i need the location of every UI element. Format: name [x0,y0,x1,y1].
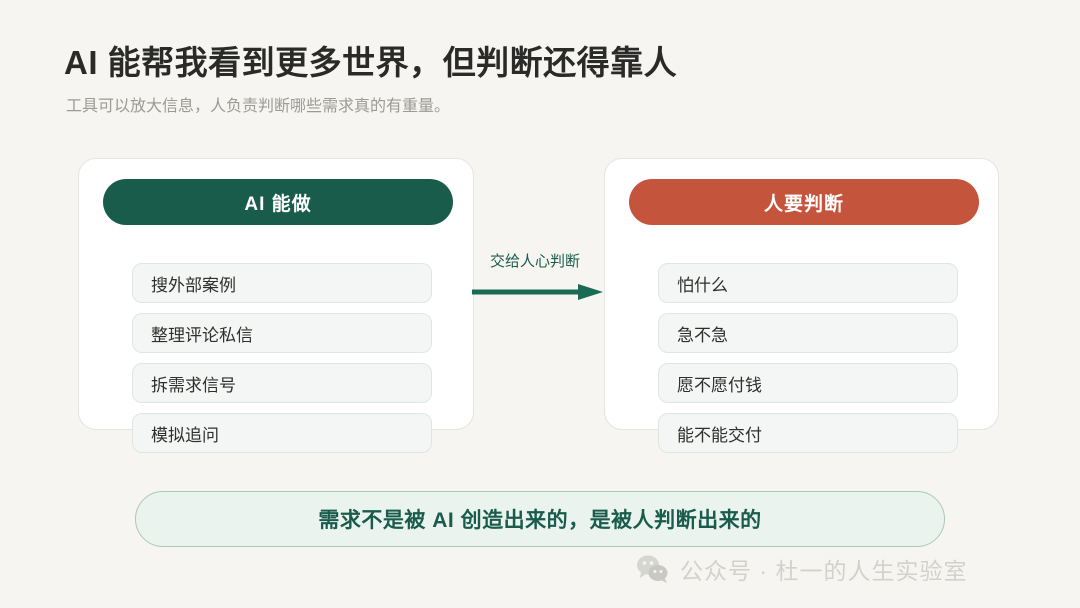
slide-root: AI 能帮我看到更多世界，但判断还得靠人 工具可以放大信息，人负责判断哪些需求真… [0,0,1080,608]
wechat-icon [636,554,670,584]
summary-banner: 需求不是被 AI 创造出来的，是被人判断出来的 [135,491,945,547]
arrow-right-icon [470,283,605,301]
list-item[interactable]: 急不急 [658,313,958,353]
watermark: 公众号 · 杜一的人生实验室 [636,552,967,586]
list-item[interactable]: 能不能交付 [658,413,958,453]
list-item[interactable]: 愿不愿付钱 [658,363,958,403]
list-ai-can-do: 搜外部案例 整理评论私信 拆需求信号 模拟追问 [132,263,432,463]
list-item[interactable]: 模拟追问 [132,413,432,453]
watermark-text: 公众号 · 杜一的人生实验室 [680,552,967,586]
list-item[interactable]: 搜外部案例 [132,263,432,303]
connector-label: 交给人心判断 [490,250,580,271]
page-subtitle: 工具可以放大信息，人负责判断哪些需求真的有重量。 [66,92,450,116]
list-item[interactable]: 整理评论私信 [132,313,432,353]
card-header-human: 人要判断 [629,179,979,225]
page-title: AI 能帮我看到更多世界，但判断还得靠人 [64,36,677,84]
list-item[interactable]: 怕什么 [658,263,958,303]
card-header-ai: AI 能做 [103,179,453,225]
list-human-judges: 怕什么 急不急 愿不愿付钱 能不能交付 [658,263,958,463]
connector: 交给人心判断 [470,250,605,310]
list-item[interactable]: 拆需求信号 [132,363,432,403]
